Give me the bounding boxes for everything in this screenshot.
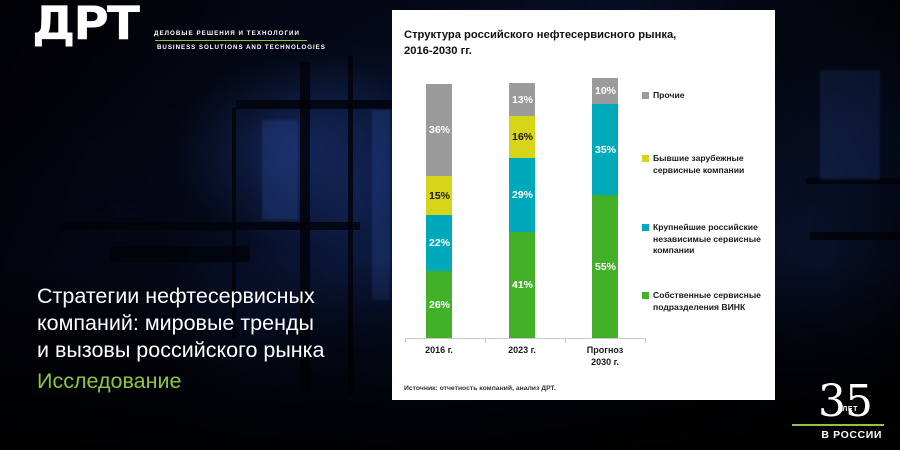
chart-bar-segment: 55%	[592, 195, 618, 338]
chart-bar-segment: 22%	[426, 215, 452, 271]
chart-bar-segment: 35%	[592, 104, 618, 195]
x-axis-line	[405, 338, 645, 339]
chart-bar-segment: 41%	[509, 232, 535, 338]
legend-item[interactable]: Бывшие зарубежныесервисные компании	[642, 153, 777, 176]
chart-bar-segment-label: 55%	[595, 261, 616, 273]
legend-item-label: Собственные сервисныеподразделения ВИНК	[653, 290, 777, 313]
badge-divider	[792, 424, 884, 426]
legend-swatch-icon	[642, 92, 649, 99]
legend-swatch-icon	[642, 224, 649, 231]
legend-swatch-icon	[642, 292, 649, 299]
logo-divider	[155, 40, 307, 41]
axis-tick	[405, 338, 406, 343]
legend-item-label: Бывшие зарубежныесервисные компании	[653, 153, 777, 176]
chart-bar-segment-label: 41%	[512, 279, 533, 291]
chart-bar-segment-label: 13%	[512, 94, 533, 106]
chart-bar-segment: 10%	[592, 78, 618, 104]
chart-category-label: 2023 г.	[476, 344, 568, 356]
chart-bar-segment: 36%	[426, 84, 452, 176]
axis-tick	[485, 338, 486, 343]
chart-bar-segment-label: 26%	[429, 299, 450, 311]
chart-bar-segment-label: 35%	[595, 144, 616, 156]
chart-bar-segment: 29%	[509, 158, 535, 233]
chart-bar-segment: 16%	[509, 116, 535, 157]
legend-item-label: Прочие	[653, 90, 777, 102]
legend-item[interactable]: Собственные сервисныеподразделения ВИНК	[642, 290, 777, 313]
axis-tick	[645, 338, 646, 343]
chart-bar-segment-label: 15%	[429, 190, 450, 202]
logo-tagline-ru: ДЕЛОВЫЕ РЕШЕНИЯ И ТЕХНОЛОГИИ	[154, 30, 300, 37]
axis-tick	[565, 338, 566, 343]
badge-years-label: ЛЕТ	[842, 406, 858, 413]
chart-bar: 36%15%22%26%	[426, 84, 452, 338]
headline-line-1: Стратегии нефтесервисных	[37, 283, 387, 310]
headline-line-3: и вызовы российского рынка	[37, 337, 387, 364]
legend-item[interactable]: Крупнейшие российскиенезависимые сервисн…	[642, 222, 777, 257]
headline-block: Стратегии нефтесервисных компаний: миров…	[37, 283, 387, 396]
chart-category-label: 2016 г.	[393, 344, 485, 356]
legend-swatch-icon	[642, 155, 649, 162]
headline-subtitle: Исследование	[37, 366, 387, 396]
anniversary-badge: 35 ЛЕТ В РОССИИ	[788, 382, 888, 440]
badge-number: 35	[818, 380, 872, 424]
chart-bar-segment-label: 29%	[512, 189, 533, 201]
chart-panel: Структура российского нефтесервисного ры…	[392, 10, 775, 400]
chart-bar-segment: 15%	[426, 176, 452, 214]
chart-bar-segment-label: 36%	[429, 124, 450, 136]
legend-item[interactable]: Прочие	[642, 90, 777, 102]
headline-line-2: компаний: мировые тренды	[37, 310, 387, 337]
legend-item-label: Крупнейшие российскиенезависимые сервисн…	[653, 222, 777, 257]
badge-country-label: В РОССИИ	[821, 429, 882, 441]
chart-bar-segment-label: 10%	[595, 85, 616, 97]
chart-bar-segment-label: 22%	[429, 237, 450, 249]
chart-bar: 10%35%55%	[592, 78, 618, 338]
chart-bar-segment: 26%	[426, 271, 452, 338]
drt-logo: ДРТ ДЕЛОВЫЕ РЕШЕНИЯ И ТЕХНОЛОГИИ BUSINES…	[24, 2, 290, 54]
logo-wordmark: ДРТ	[32, 0, 138, 46]
chart-source-note: Источник: отчетность компаний, анализ ДР…	[404, 385, 556, 392]
chart-bar-segment: 13%	[509, 83, 535, 116]
chart-category-label: Прогноз2030 г.	[559, 344, 651, 368]
chart-bar: 13%16%29%41%	[509, 83, 535, 338]
logo-tagline-en: BUSINESS SOLUTIONS AND TECHNOLOGIES	[157, 44, 326, 51]
stacked-bar-chart: 36%15%22%26%13%16%29%41%10%35%55% 2016 г…	[392, 10, 775, 400]
chart-bar-segment-label: 16%	[512, 131, 533, 143]
